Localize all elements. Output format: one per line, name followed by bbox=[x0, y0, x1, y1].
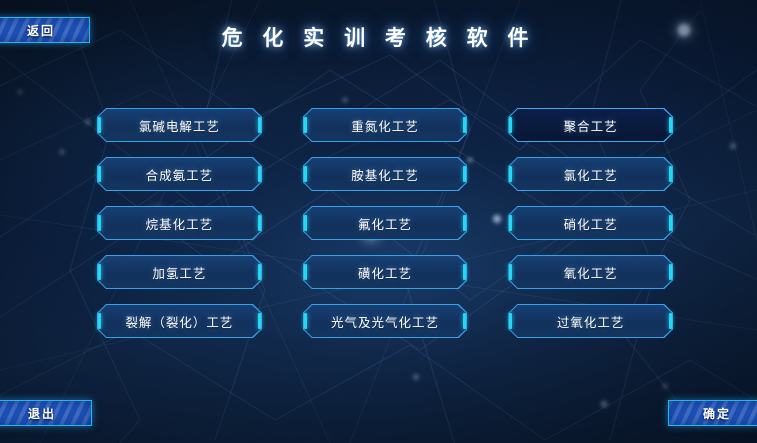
process-button[interactable]: 聚合工艺 bbox=[508, 108, 673, 142]
back-button[interactable]: 返回 bbox=[0, 17, 90, 43]
process-grid: 氯碱电解工艺重氮化工艺聚合工艺合成氨工艺胺基化工艺氯化工艺烷基化工艺氟化工艺硝化… bbox=[97, 108, 673, 338]
left-accent-icon bbox=[98, 117, 101, 133]
process-button[interactable]: 胺基化工艺 bbox=[303, 157, 468, 191]
right-accent-icon bbox=[463, 313, 466, 329]
right-accent-icon bbox=[463, 215, 466, 231]
process-button-label: 硝化工艺 bbox=[564, 214, 618, 233]
process-button[interactable]: 氯化工艺 bbox=[508, 157, 673, 191]
left-accent-icon bbox=[304, 166, 307, 182]
left-accent-icon bbox=[509, 264, 512, 280]
process-button[interactable]: 烷基化工艺 bbox=[97, 206, 262, 240]
process-button-label: 氟化工艺 bbox=[358, 214, 412, 233]
process-button-label: 裂解（裂化）工艺 bbox=[125, 312, 233, 331]
right-accent-icon bbox=[258, 166, 261, 182]
process-button[interactable]: 加氢工艺 bbox=[97, 255, 262, 289]
right-accent-icon bbox=[258, 117, 261, 133]
right-accent-icon bbox=[669, 117, 672, 133]
process-row: 合成氨工艺胺基化工艺氯化工艺 bbox=[97, 157, 673, 191]
process-button[interactable]: 光气及光气化工艺 bbox=[303, 304, 468, 338]
exit-button[interactable]: 退出 bbox=[0, 400, 92, 426]
process-button-label: 重氮化工艺 bbox=[351, 116, 419, 135]
process-button-label: 合成氨工艺 bbox=[146, 165, 214, 184]
left-accent-icon bbox=[98, 313, 101, 329]
process-button[interactable]: 合成氨工艺 bbox=[97, 157, 262, 191]
process-row: 裂解（裂化）工艺光气及光气化工艺过氧化工艺 bbox=[97, 304, 673, 338]
left-accent-icon bbox=[509, 215, 512, 231]
process-button-label: 胺基化工艺 bbox=[351, 165, 419, 184]
process-button[interactable]: 磺化工艺 bbox=[303, 255, 468, 289]
right-accent-icon bbox=[669, 166, 672, 182]
left-accent-icon bbox=[98, 264, 101, 280]
process-button-label: 聚合工艺 bbox=[564, 116, 618, 135]
process-button-label: 氯碱电解工艺 bbox=[139, 116, 220, 135]
process-button-label: 加氢工艺 bbox=[152, 263, 206, 282]
left-accent-icon bbox=[304, 313, 307, 329]
process-button-label: 氧化工艺 bbox=[564, 263, 618, 282]
left-accent-icon bbox=[509, 313, 512, 329]
left-accent-icon bbox=[304, 264, 307, 280]
right-accent-icon bbox=[463, 264, 466, 280]
page-title: 危 化 实 训 考 核 软 件 bbox=[0, 22, 757, 52]
process-button[interactable]: 氯碱电解工艺 bbox=[97, 108, 262, 142]
process-button-label: 烷基化工艺 bbox=[146, 214, 214, 233]
process-button-label: 磺化工艺 bbox=[358, 263, 412, 282]
process-button[interactable]: 硝化工艺 bbox=[508, 206, 673, 240]
process-button-label: 光气及光气化工艺 bbox=[331, 312, 439, 331]
right-accent-icon bbox=[258, 215, 261, 231]
left-accent-icon bbox=[304, 215, 307, 231]
right-accent-icon bbox=[669, 264, 672, 280]
right-accent-icon bbox=[669, 215, 672, 231]
process-button[interactable]: 氟化工艺 bbox=[303, 206, 468, 240]
process-button[interactable]: 氧化工艺 bbox=[508, 255, 673, 289]
process-row: 加氢工艺磺化工艺氧化工艺 bbox=[97, 255, 673, 289]
process-button[interactable]: 裂解（裂化）工艺 bbox=[97, 304, 262, 338]
process-row: 氯碱电解工艺重氮化工艺聚合工艺 bbox=[97, 108, 673, 142]
right-accent-icon bbox=[463, 117, 466, 133]
left-accent-icon bbox=[509, 117, 512, 133]
process-button-label: 过氧化工艺 bbox=[557, 312, 625, 331]
left-accent-icon bbox=[509, 166, 512, 182]
right-accent-icon bbox=[669, 313, 672, 329]
right-accent-icon bbox=[258, 313, 261, 329]
process-button[interactable]: 重氮化工艺 bbox=[303, 108, 468, 142]
left-accent-icon bbox=[98, 215, 101, 231]
process-row: 烷基化工艺氟化工艺硝化工艺 bbox=[97, 206, 673, 240]
left-accent-icon bbox=[304, 117, 307, 133]
process-button[interactable]: 过氧化工艺 bbox=[508, 304, 673, 338]
app-window: 危 化 实 训 考 核 软 件 返回 氯碱电解工艺重氮化工艺聚合工艺合成氨工艺胺… bbox=[0, 0, 757, 443]
right-accent-icon bbox=[258, 264, 261, 280]
process-button-label: 氯化工艺 bbox=[564, 165, 618, 184]
right-accent-icon bbox=[463, 166, 466, 182]
confirm-button[interactable]: 确定 bbox=[668, 400, 757, 426]
left-accent-icon bbox=[98, 166, 101, 182]
